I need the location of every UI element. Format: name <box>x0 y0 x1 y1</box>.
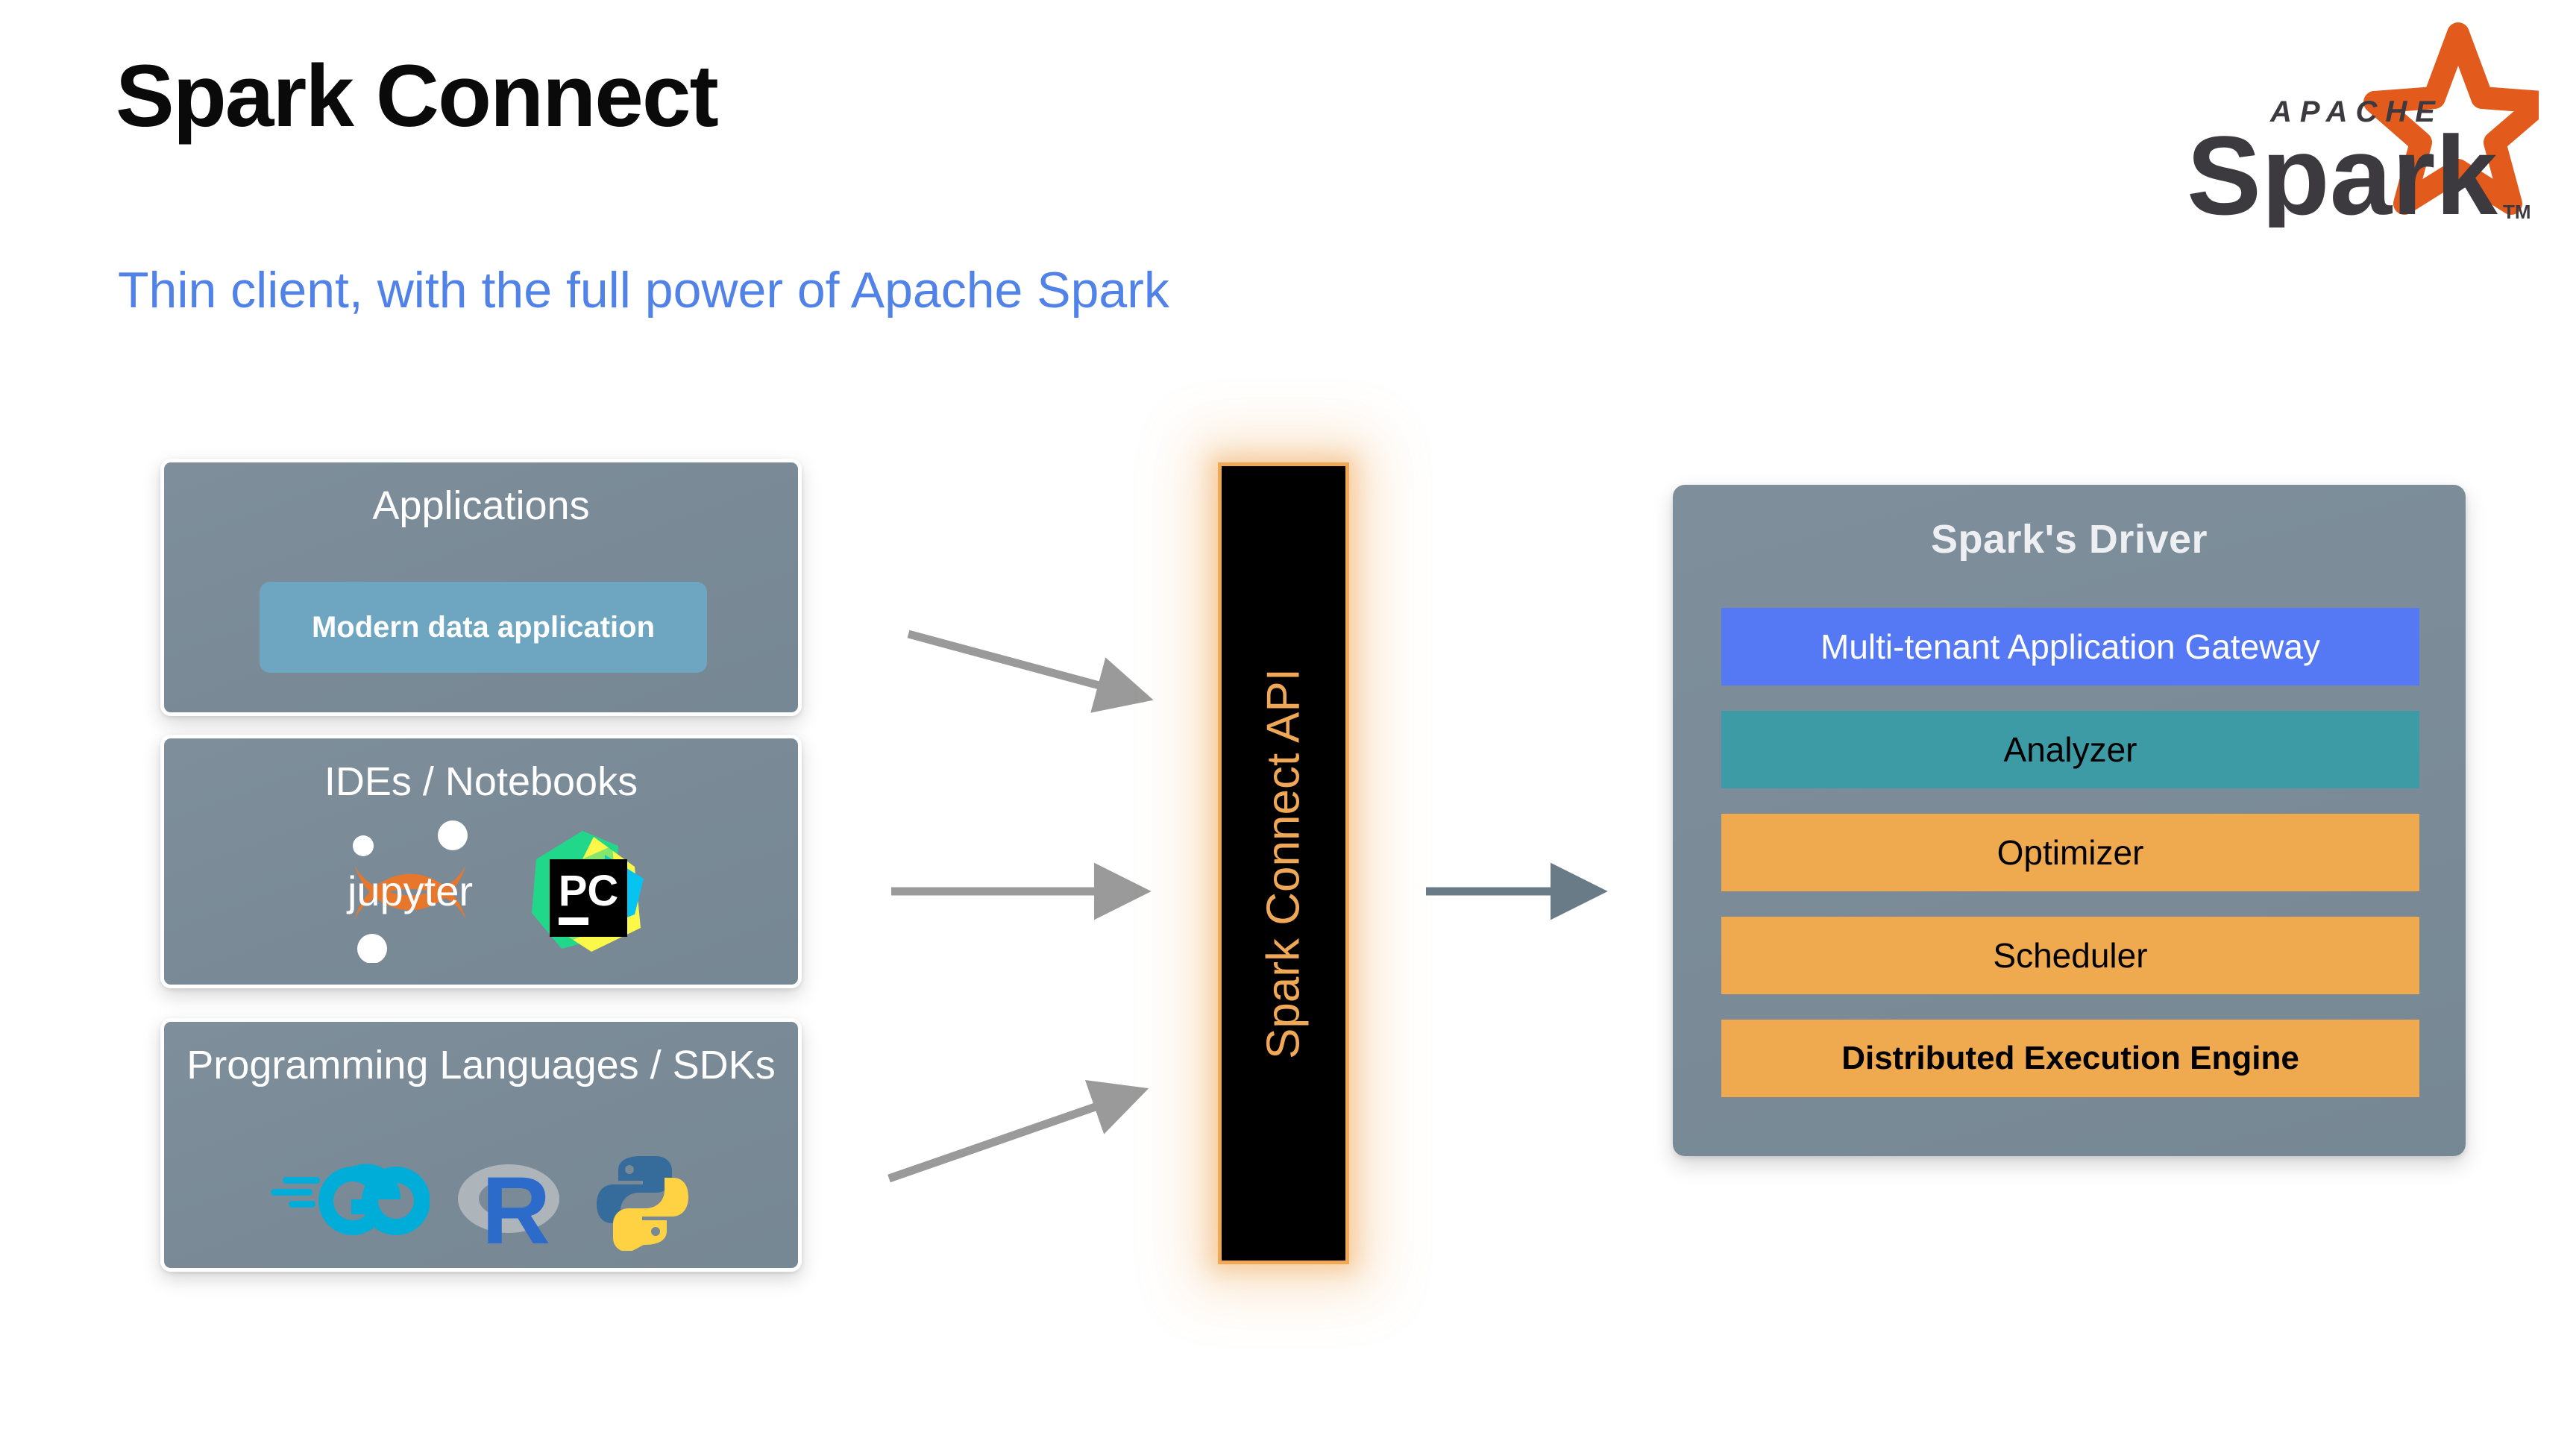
spark-driver-panel[interactable]: Spark's Driver Multi-tenant Application … <box>1673 485 2466 1156</box>
driver-row-scheduler[interactable]: Scheduler <box>1721 917 2419 994</box>
page-subtitle: Thin client, with the full power of Apac… <box>118 265 1169 316</box>
driver-row-execution-engine[interactable]: Distributed Execution Engine <box>1721 1020 2419 1097</box>
apache-spark-logo: APACHE Spark TM <box>2166 11 2539 227</box>
driver-row-gateway[interactable]: Multi-tenant Application Gateway <box>1721 608 2419 685</box>
card-applications-title: Applications <box>164 462 798 528</box>
python-logo <box>592 1150 693 1255</box>
language-logo-row: GO R <box>164 1150 798 1255</box>
card-applications[interactable]: Applications Modern data application <box>160 459 802 716</box>
arrow-applications-to-api <box>908 634 1108 688</box>
page-title: Spark Connect <box>116 52 717 140</box>
spark-driver-title: Spark's Driver <box>1673 485 2466 562</box>
r-logo: R <box>455 1152 567 1253</box>
pycharm-logo: PC <box>523 823 653 961</box>
spark-wordmark: Spark <box>2187 113 2498 227</box>
card-ides-title: IDEs / Notebooks <box>164 738 798 804</box>
pycharm-wordmark: PC <box>558 867 618 915</box>
driver-row-analyzer[interactable]: Analyzer <box>1721 711 2419 788</box>
card-ides-notebooks[interactable]: IDEs / Notebooks jupyter PC <box>160 735 802 988</box>
card-programming-languages[interactable]: Programming Languages / SDKs GO R <box>160 1018 802 1272</box>
spark-connect-api-bar[interactable]: Spark Connect API <box>1218 462 1349 1264</box>
driver-component-list: Multi-tenant Application Gateway Analyze… <box>1721 608 2419 1123</box>
spark-connect-api-label: Spark Connect API <box>1257 668 1310 1059</box>
jupyter-logo: jupyter <box>339 817 481 967</box>
trademark-mark: TM <box>2503 201 2531 223</box>
go-logo: GO <box>269 1156 430 1249</box>
ide-logo-row: jupyter PC <box>164 817 798 967</box>
driver-row-optimizer[interactable]: Optimizer <box>1721 814 2419 891</box>
jupyter-wordmark: jupyter <box>345 867 472 914</box>
modern-data-application-pill[interactable]: Modern data application <box>260 582 707 673</box>
card-languages-title: Programming Languages / SDKs <box>164 1022 798 1087</box>
r-wordmark: R <box>482 1158 550 1249</box>
arrow-languages-to-api <box>889 1104 1104 1178</box>
